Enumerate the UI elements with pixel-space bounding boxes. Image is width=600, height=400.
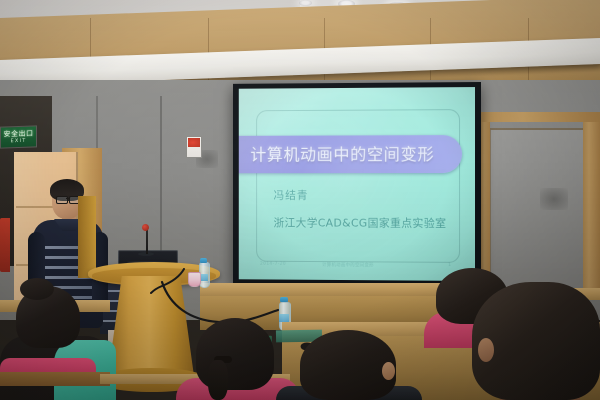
ceiling-light-icon <box>299 0 312 6</box>
audience-center-right-hair <box>300 330 396 400</box>
microphone-stem <box>146 228 148 254</box>
audience-center-right-ear <box>382 362 395 380</box>
microphone-icon <box>142 224 149 231</box>
lecture-hall-photo: 安全出口 EXIT 计算机动画中的空间变形 冯结青 浙江大学CAD&CG国家重点… <box>0 0 600 400</box>
wall-wood-strip <box>481 112 600 122</box>
paper-cup <box>188 272 201 287</box>
podium-back-column <box>78 196 96 278</box>
red-wall-strip <box>0 218 10 272</box>
bottle-cap <box>280 297 288 302</box>
notice-red-mark-icon <box>188 138 200 147</box>
screen-glare <box>239 87 475 281</box>
wall-wood-strip <box>583 120 600 290</box>
power-cable-upper <box>150 268 190 294</box>
projection-screen: 计算机动画中的空间变形 冯结青 浙江大学CAD&CG国家重点实验室 2014-7… <box>239 87 475 281</box>
audience-foreground-right-ear <box>478 338 494 362</box>
bottle-cap <box>200 258 207 263</box>
wall-wood-strip <box>481 118 490 290</box>
emergency-exit-sign: 安全出口 EXIT <box>0 125 37 148</box>
wall-smudge <box>540 188 568 210</box>
wall-notice-sign <box>186 136 202 158</box>
bottle-label <box>279 314 289 322</box>
audience-front-left-bun <box>20 278 54 300</box>
wall-panel <box>489 128 587 290</box>
chair-wooden-rail <box>0 372 110 386</box>
audience-center-ponytail <box>208 360 228 400</box>
projection-screen-frame: 计算机动画中的空间变形 冯结青 浙江大学CAD&CG国家重点实验室 2014-7… <box>233 82 481 286</box>
eyeglasses-bridge-icon <box>66 198 69 199</box>
exit-sign-english-label: EXIT <box>11 137 27 144</box>
